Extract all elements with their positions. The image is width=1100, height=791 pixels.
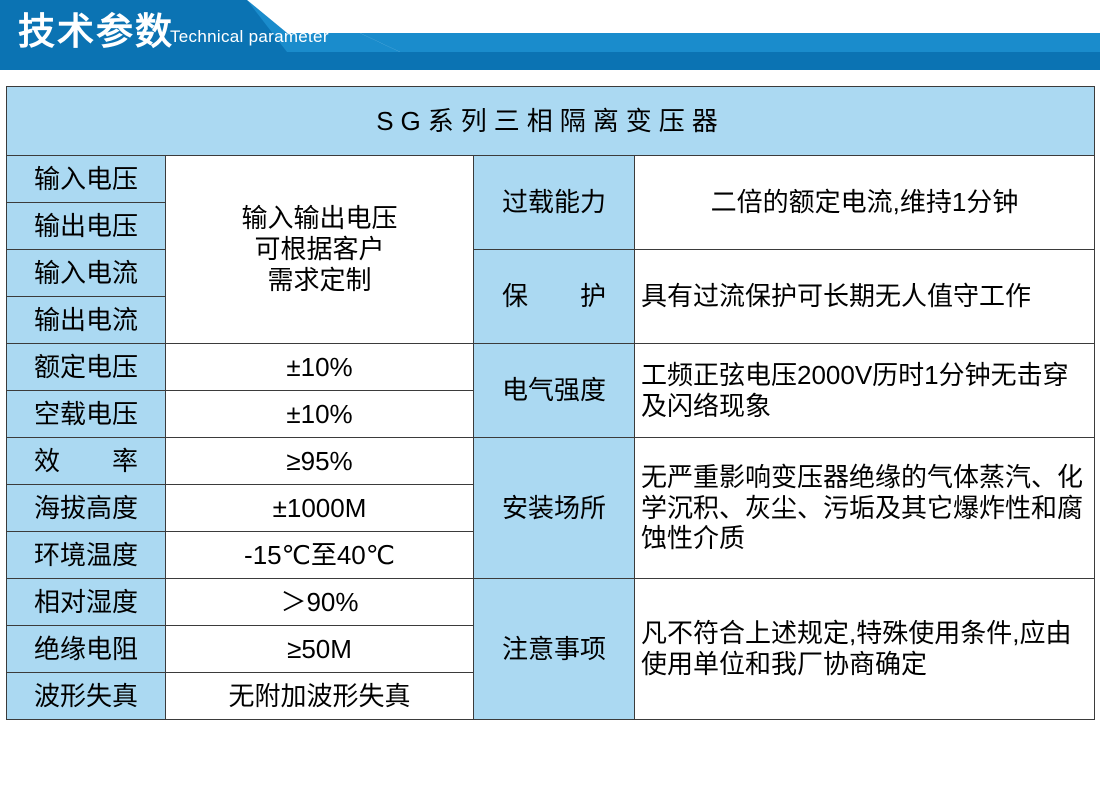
banner-title-en: Technical parameter (170, 27, 329, 47)
label-electrical-strength: 电气强度 (474, 344, 635, 438)
value-no-load-voltage: ±10% (166, 391, 474, 438)
value-protection: 具有过流保护可长期无人值守工作 (635, 250, 1095, 344)
page-root: 技术参数 Technical parameter SG系列三相隔离变压器 输入电… (0, 0, 1100, 791)
note-line-1: 输入输出电压 (172, 203, 467, 234)
note-line-2: 可根据客户 (172, 234, 467, 265)
value-altitude: ±1000M (166, 485, 474, 532)
value-rated-voltage: ±10% (166, 344, 474, 391)
label-protection: 保 护 (474, 250, 635, 344)
value-relative-humidity: ＞90% (166, 579, 474, 626)
specification-table: SG系列三相隔离变压器 输入电压 输入输出电压 可根据客户 需求定制 过载能力 … (6, 86, 1095, 720)
table-row: 效 率 ≥95% 安装场所 无严重影响变压器绝缘的气体蒸汽、化学沉积、灰尘、污垢… (7, 438, 1095, 485)
label-overload-capacity: 过载能力 (474, 156, 635, 250)
page-title: SG系列三相隔离变压器 (7, 87, 1095, 156)
value-installation-site: 无严重影响变压器绝缘的气体蒸汽、化学沉积、灰尘、污垢及其它爆炸性和腐蚀性介质 (635, 438, 1095, 579)
label-altitude: 海拔高度 (7, 485, 166, 532)
table-title-row: SG系列三相隔离变压器 (7, 87, 1095, 156)
value-precautions: 凡不符合上述规定,特殊使用条件,应由使用单位和我厂协商确定 (635, 579, 1095, 720)
value-waveform-distortion: 无附加波形失真 (166, 673, 474, 720)
table-row: 额定电压 ±10% 电气强度 工频正弦电压2000V历时1分钟无击穿及闪络现象 (7, 344, 1095, 391)
value-efficiency: ≥95% (166, 438, 474, 485)
note-line-3: 需求定制 (172, 265, 467, 296)
label-relative-humidity: 相对湿度 (7, 579, 166, 626)
label-rated-voltage: 额定电压 (7, 344, 166, 391)
value-overload-capacity: 二倍的额定电流,维持1分钟 (635, 156, 1095, 250)
label-insulation-resistance: 绝缘电阻 (7, 626, 166, 673)
banner-tail (360, 33, 1100, 52)
label-no-load-voltage: 空载电压 (7, 391, 166, 438)
banner-title-cn: 技术参数 (18, 8, 174, 56)
custom-voltage-note: 输入输出电压 可根据客户 需求定制 (166, 156, 474, 344)
value-insulation-resistance: ≥50M (166, 626, 474, 673)
label-input-current: 输入电流 (7, 250, 166, 297)
table-row: 输入电压 输入输出电压 可根据客户 需求定制 过载能力 二倍的额定电流,维持1分… (7, 156, 1095, 203)
label-output-voltage: 输出电压 (7, 203, 166, 250)
label-waveform-distortion: 波形失真 (7, 673, 166, 720)
label-precautions: 注意事项 (474, 579, 635, 720)
label-ambient-temperature: 环境温度 (7, 532, 166, 579)
table-row: 相对湿度 ＞90% 注意事项 凡不符合上述规定,特殊使用条件,应由使用单位和我厂… (7, 579, 1095, 626)
value-electrical-strength: 工频正弦电压2000V历时1分钟无击穿及闪络现象 (635, 344, 1095, 438)
value-ambient-temperature: -15℃至40℃ (166, 532, 474, 579)
label-input-voltage: 输入电压 (7, 156, 166, 203)
label-installation-site: 安装场所 (474, 438, 635, 579)
label-output-current: 输出电流 (7, 297, 166, 344)
label-efficiency: 效 率 (7, 438, 166, 485)
section-banner: 技术参数 Technical parameter (0, 0, 1100, 70)
